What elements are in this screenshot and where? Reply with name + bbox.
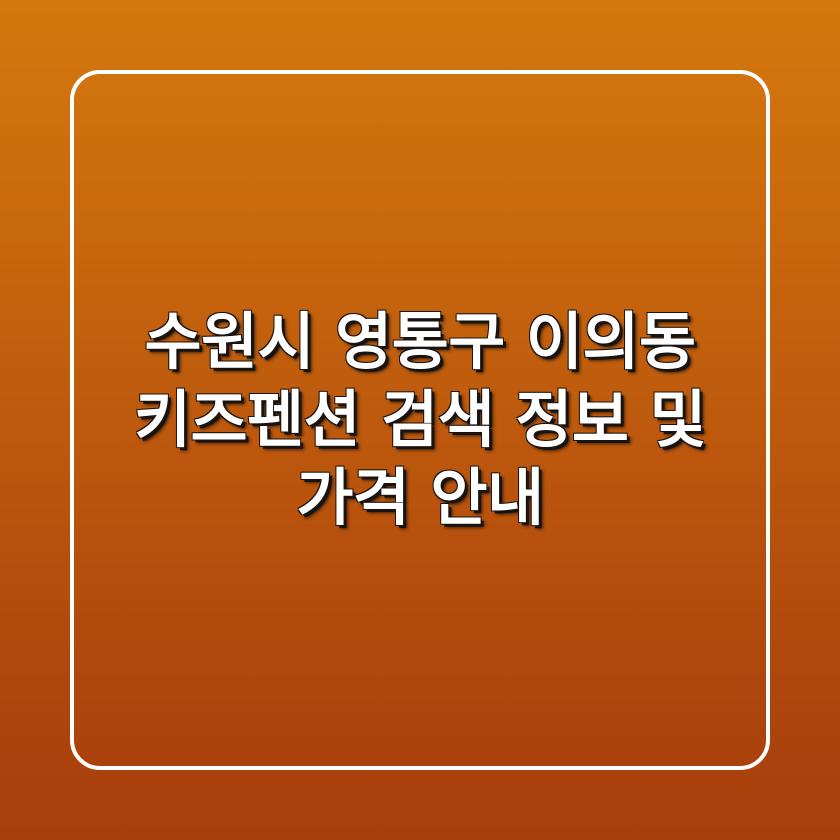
title-line-2: 키즈펜션 검색 정보 및 bbox=[96, 381, 744, 459]
page-title: 수원시 영통구 이의동 키즈펜션 검색 정보 및 가격 안내 bbox=[0, 0, 840, 840]
title-line-3: 가격 안내 bbox=[96, 459, 744, 537]
promo-card: 수원시 영통구 이의동 키즈펜션 검색 정보 및 가격 안내 bbox=[0, 0, 840, 840]
title-line-1: 수원시 영통구 이의동 bbox=[96, 303, 744, 381]
